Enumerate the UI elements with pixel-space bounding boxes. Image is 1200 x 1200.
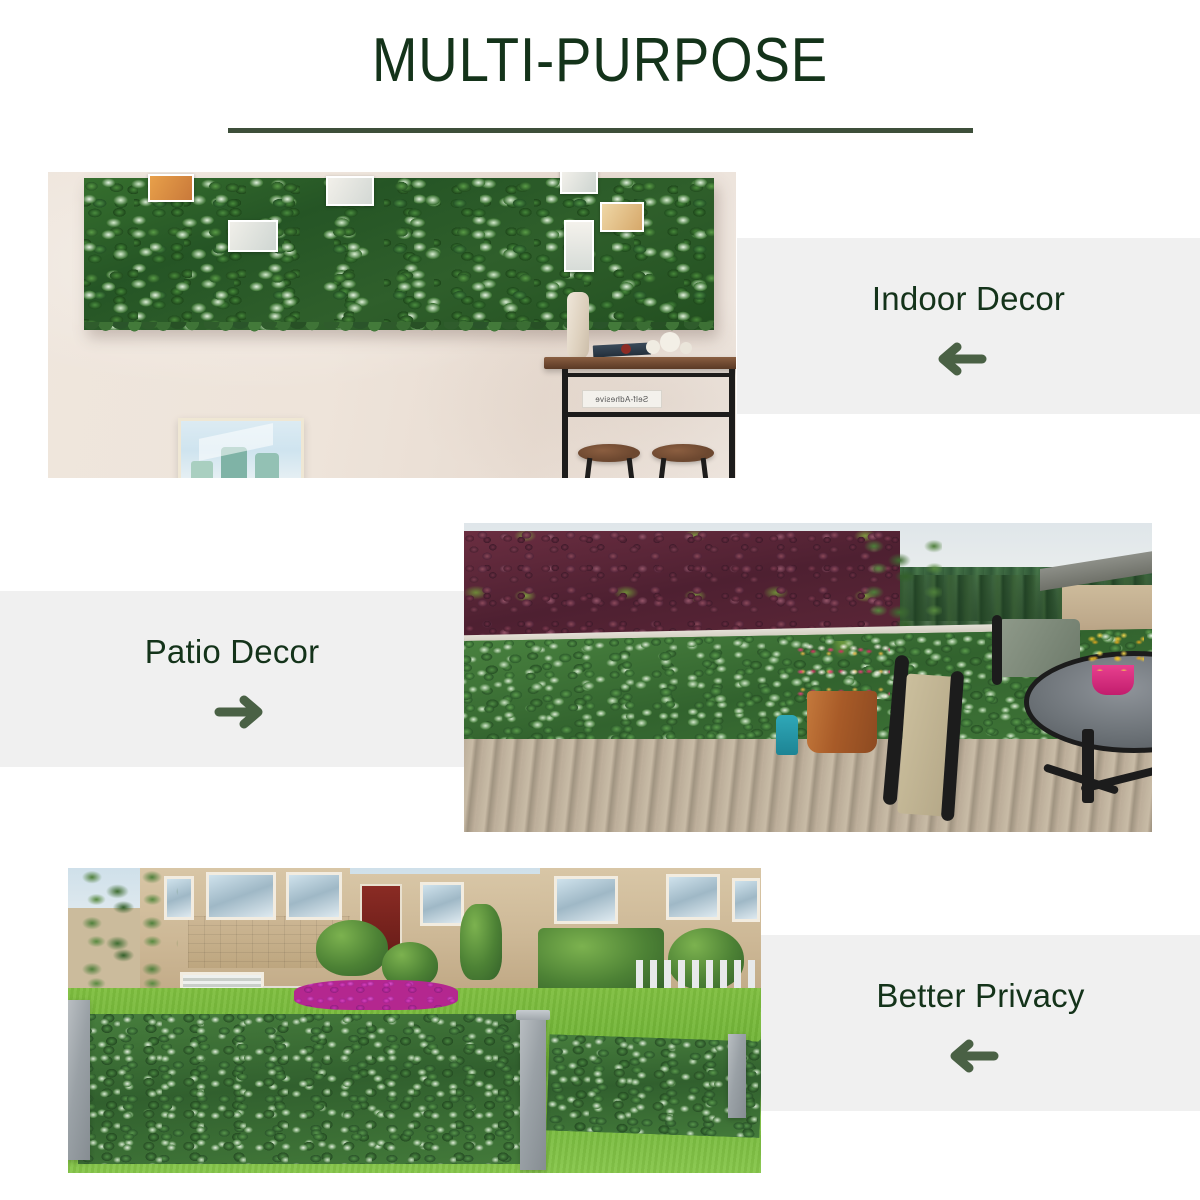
privacy-window-7: [666, 874, 720, 920]
console-table-top: [544, 357, 736, 369]
console-table-leg-left: [562, 369, 568, 478]
decor-ball-white-2: [660, 332, 680, 352]
pinned-card-5: [600, 202, 644, 232]
privacy-shrub-3: [460, 904, 502, 980]
privacy-window-2: [206, 872, 276, 920]
privacy-window-5: [420, 882, 464, 926]
product-box-label: Self-Adhesive: [582, 390, 662, 408]
photo-indoor-decor: Self-Adhesive: [48, 172, 736, 478]
photo-patio-decor: [464, 523, 1152, 832]
pinned-card-4: [564, 220, 594, 272]
patio-deck-floor: [464, 739, 1152, 832]
product-box-text: Self-Adhesive: [595, 395, 648, 404]
arrow-better-privacy: [761, 1039, 1200, 1073]
pinned-card-6: [560, 172, 598, 194]
band-better-privacy: Better Privacy: [761, 935, 1200, 1111]
decor-ball-white-3: [680, 342, 692, 354]
console-table-leg-right: [729, 369, 735, 478]
label-better-privacy: Better Privacy: [761, 977, 1200, 1015]
header: MULTI-PURPOSE: [0, 0, 1200, 150]
page-title: MULTI-PURPOSE: [72, 28, 1128, 93]
band-indoor-decor: Indoor Decor: [737, 238, 1200, 414]
decor-vase: [567, 292, 589, 360]
pinned-card-1: [148, 174, 194, 202]
privacy-shrub-1: [316, 920, 388, 976]
fence-post-right: [728, 1034, 746, 1118]
arrow-left-icon: [936, 342, 1002, 376]
patio-yellow-flowers: [1084, 631, 1144, 671]
band-patio-decor: Patio Decor: [0, 591, 464, 767]
artwork-shape-1: [191, 461, 213, 478]
label-indoor-decor: Indoor Decor: [737, 280, 1200, 318]
arrow-left-icon: [948, 1039, 1014, 1073]
decor-ball-white-1: [646, 340, 660, 354]
fence-post-middle: [520, 1016, 546, 1170]
arrow-right-icon: [199, 695, 265, 729]
ivy-screen-privacy-left: [78, 1014, 528, 1164]
title-divider: [228, 128, 973, 133]
console-table-shelf: [562, 412, 735, 417]
artwork-shape-3: [255, 453, 279, 478]
label-patio-decor: Patio Decor: [0, 633, 464, 671]
privacy-window-8: [732, 878, 760, 922]
fence-post-middle-cap: [516, 1010, 550, 1020]
pinned-card-2: [228, 220, 278, 252]
photo-better-privacy: [68, 868, 761, 1173]
framed-artwork: [178, 418, 304, 478]
patio-terracotta-pot: [807, 691, 877, 753]
patio-chair-right-frame: [992, 615, 1002, 685]
decor-ball-red: [621, 344, 631, 354]
arrow-patio-decor: [0, 695, 464, 729]
console-table-rail-top: [562, 373, 735, 377]
fence-post-left: [68, 1000, 90, 1160]
patio-garden-gnome: [776, 715, 798, 755]
privacy-window-3: [286, 872, 342, 920]
arrow-indoor-decor: [737, 342, 1200, 376]
pinned-card-3: [326, 176, 374, 206]
privacy-window-6: [554, 876, 618, 924]
